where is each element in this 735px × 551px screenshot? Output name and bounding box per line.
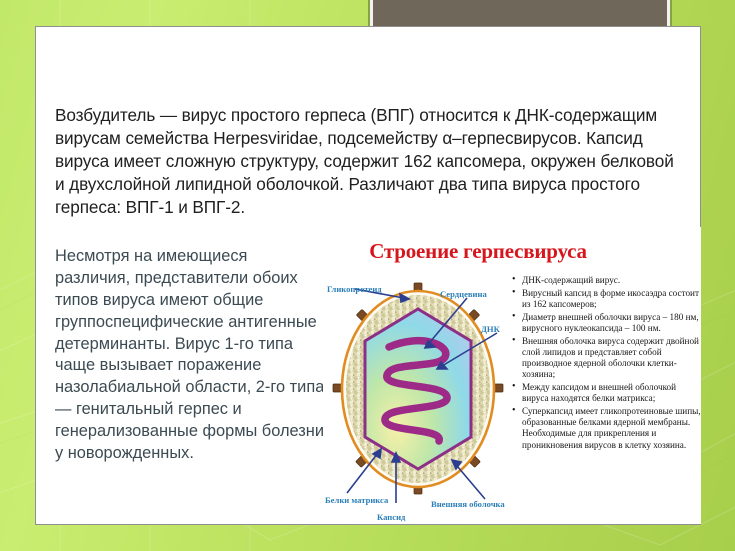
image-bullet-list: ДНК-содержащий вирус. Вирусный капсид в … [511, 275, 701, 452]
list-item: Суперкапсид имеет гликопротеиновые шипы,… [511, 406, 701, 451]
list-item: Внешняя оболочка вируса содержит двойной… [511, 336, 701, 381]
virus-diagram [325, 271, 515, 521]
slide: Возбудитель — вирус простого герпеса (ВП… [0, 0, 735, 551]
left-column-paragraph: Несмотря на имеющиеся различия, представ… [55, 246, 325, 464]
label-dna: ДНК [481, 324, 500, 334]
image-title: Строение герпесвируса [323, 239, 633, 264]
label-capsid: Капсид [377, 512, 405, 522]
label-glycoprotein: Гликопротеид [327, 284, 382, 294]
content-card: Возбудитель — вирус простого герпеса (ВП… [35, 26, 701, 525]
intro-paragraph: Возбудитель — вирус простого герпеса (ВП… [55, 104, 685, 219]
label-core: Сердцевина [440, 289, 487, 299]
list-item: ДНК-содержащий вирус. [511, 275, 701, 286]
label-outer-envelope: Внешняя оболочка [431, 499, 505, 509]
herpesvirus-structure-image[interactable]: Строение герпесвируса ДНК-содержащий вир… [323, 227, 701, 524]
label-matrix-proteins: Белки матрикса [325, 495, 388, 505]
list-item: Диаметр внешней оболочки вируса – 180 нм… [511, 312, 701, 334]
list-item: Между капсидом и внешней оболочкой вирус… [511, 382, 701, 404]
list-item: Вирусный капсид в форме икосаэдра состои… [511, 288, 701, 310]
